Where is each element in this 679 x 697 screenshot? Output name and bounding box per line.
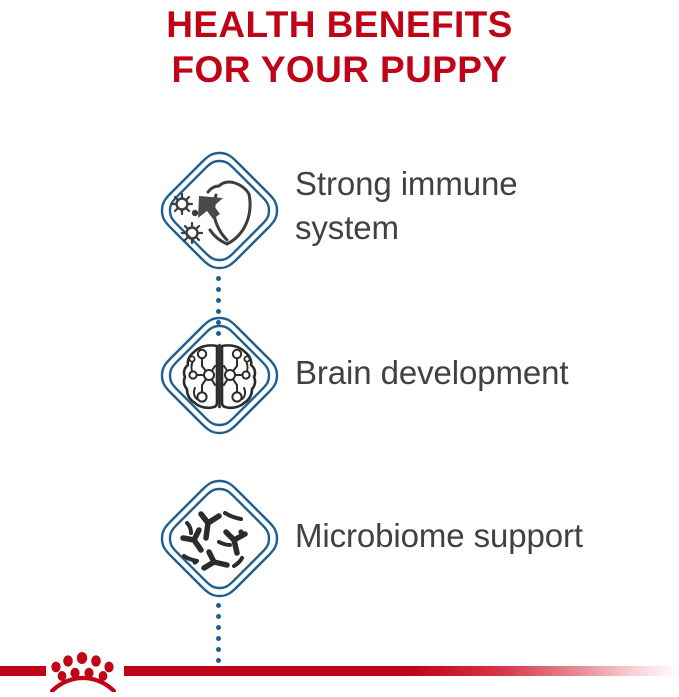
footer-brand-bar xyxy=(0,630,679,696)
footer-bar-right xyxy=(124,666,679,676)
page-title: HEALTH BENEFITS FOR YOUR PUPPY xyxy=(0,0,679,92)
bacteria-microbiome-icon xyxy=(157,476,282,601)
brain-circuit-icon xyxy=(157,313,282,438)
footer-bar-left xyxy=(0,666,46,676)
royal-canin-crown-logo xyxy=(48,650,118,692)
benefits-list: Strong immune system xyxy=(0,148,679,637)
connector-dot xyxy=(216,287,221,292)
shield-germ-icon xyxy=(157,148,282,273)
benefit-label-microbiome: Microbiome support xyxy=(295,514,583,558)
connector-dot xyxy=(216,298,221,303)
title-line-1: HEALTH BENEFITS xyxy=(0,2,679,47)
benefit-item-immune: Strong immune system xyxy=(0,148,679,311)
title-line-2: FOR YOUR PUPPY xyxy=(0,47,679,92)
benefit-label-brain: Brain development xyxy=(295,351,568,395)
benefit-item-microbiome: Microbiome support xyxy=(0,474,679,637)
benefit-label-immune: Strong immune system xyxy=(295,162,517,250)
benefit-item-brain: Brain development xyxy=(0,311,679,474)
connector-dot xyxy=(216,276,221,281)
